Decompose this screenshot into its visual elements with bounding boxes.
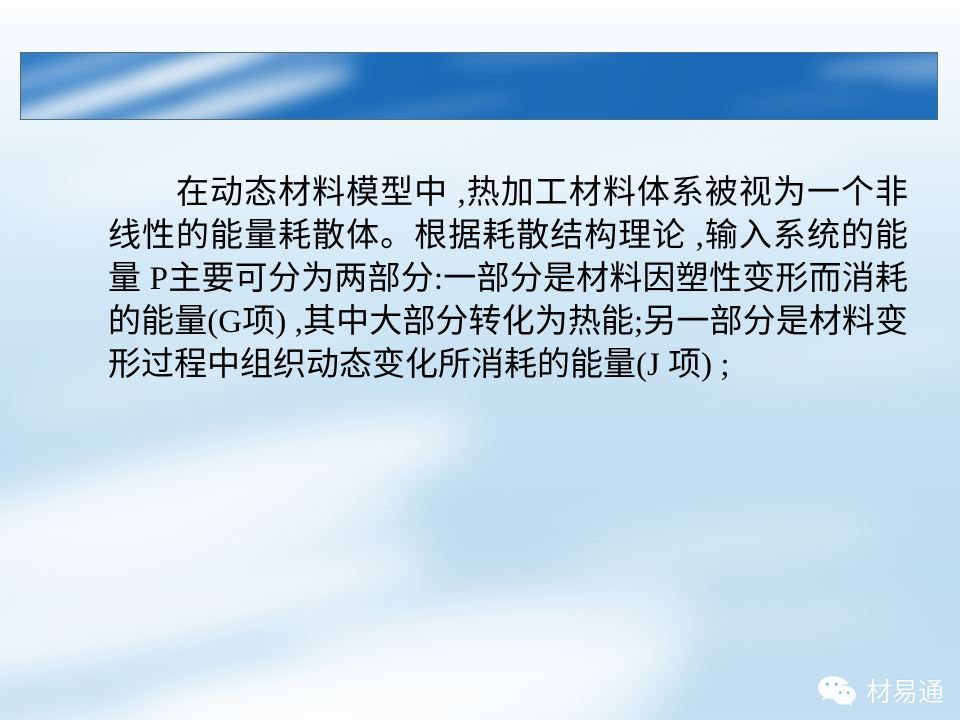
banner-cloud: [441, 52, 611, 68]
watermark-label: 材易通: [866, 679, 944, 705]
banner-cloud: [184, 52, 368, 108]
wechat-icon: [817, 675, 857, 708]
watermark: 材易通: [817, 675, 944, 708]
slide-body-paragraph: 在动态材料模型中 ,热加工材料体系被视为一个非线性的能量耗散体。根据耗散结构理论…: [108, 172, 908, 387]
banner-cloud: [811, 52, 938, 81]
banner-cloud: [321, 90, 520, 120]
presentation-slide: 在动态材料模型中 ,热加工材料体系被视为一个非线性的能量耗散体。根据耗散结构理论…: [0, 0, 960, 720]
banner-cloud: [132, 52, 359, 91]
banner-cloud: [881, 52, 938, 88]
banner-cloud: [20, 52, 208, 105]
banner-cloud: [721, 91, 881, 112]
banner-cloud: [63, 59, 359, 120]
banner-cloud: [20, 52, 278, 120]
header-banner-image: [20, 52, 938, 120]
